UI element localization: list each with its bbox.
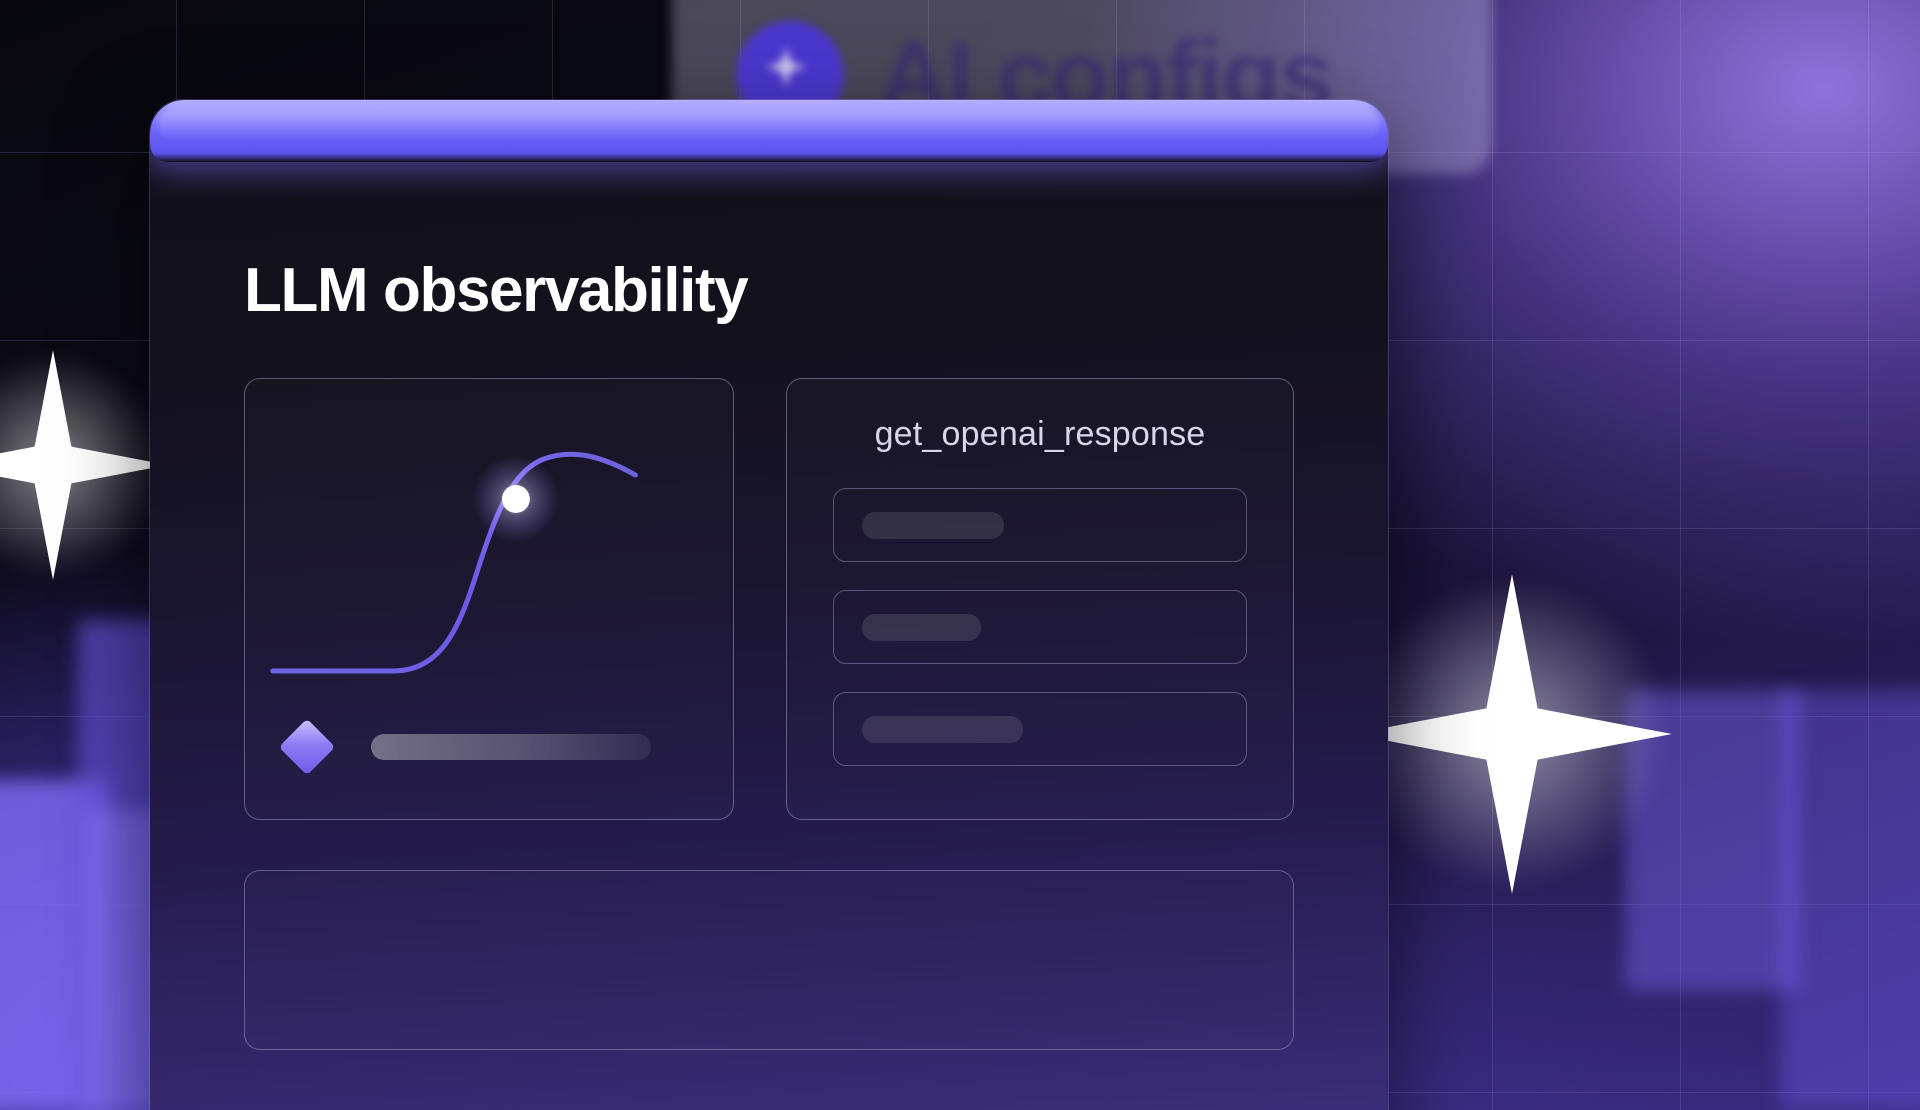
detail-row-1[interactable] (833, 488, 1247, 562)
chart-legend (287, 727, 651, 767)
sparkle-star-left (0, 350, 168, 580)
background-bar-1 (0, 780, 110, 1110)
row-skeleton (862, 614, 981, 641)
detail-card-title: get_openai_response (833, 415, 1247, 454)
card-row: get_openai_response (244, 378, 1294, 820)
detail-row-list (833, 488, 1247, 766)
background-bar-5 (1780, 690, 1920, 1110)
detail-row-3[interactable] (833, 692, 1247, 766)
sparkle-core (1352, 574, 1672, 894)
row-skeleton (862, 512, 1004, 539)
lower-panel[interactable] (244, 870, 1294, 1050)
row-skeleton (862, 716, 1023, 743)
diamond-icon (279, 719, 336, 776)
page-title: LLM observability (244, 260, 1294, 322)
detail-card[interactable]: get_openai_response (786, 378, 1294, 820)
app-window: LLM observability (150, 100, 1388, 1110)
hero-graphic: AI configs LLM observability (0, 0, 1920, 1110)
window-body: LLM observability (150, 162, 1388, 1110)
sparkle-star-right (1352, 574, 1672, 894)
detail-row-2[interactable] (833, 590, 1247, 664)
chart-card[interactable] (244, 378, 734, 820)
legend-label-skeleton (371, 734, 651, 760)
background-bar-4 (1625, 690, 1800, 990)
sigmoid-growth-chart (245, 379, 733, 719)
sparkle-core (0, 350, 168, 580)
